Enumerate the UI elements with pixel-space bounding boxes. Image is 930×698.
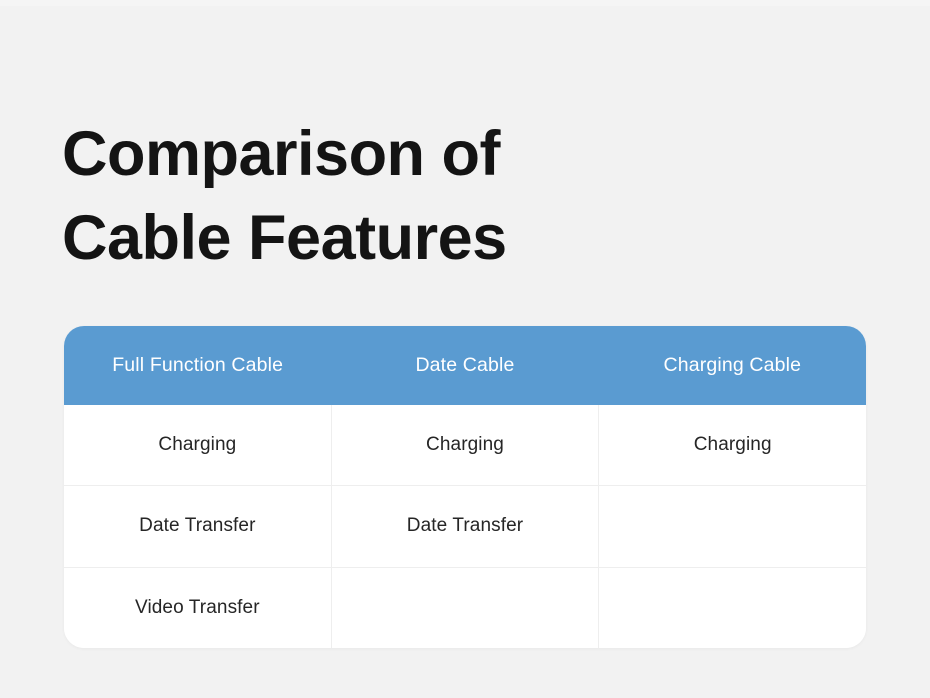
table-grid: Full Function Cable Date Cable Charging …	[64, 326, 866, 648]
table-cell-empty	[598, 568, 866, 648]
table-cell-value: Date Transfer	[407, 515, 523, 537]
table-row: Date Transfer Date Transfer	[64, 485, 866, 567]
table-cell: Date Transfer	[64, 486, 331, 567]
table-header-cell-full-function-cable: Full Function Cable	[64, 326, 331, 405]
table-cell: Charging	[64, 405, 331, 486]
table-header-label: Date Cable	[415, 354, 514, 377]
page-title-line-2: Cable Features	[62, 196, 822, 280]
table-header-row: Full Function Cable Date Cable Charging …	[64, 326, 866, 405]
table-cell: Video Transfer	[64, 568, 331, 648]
table-row: Charging Charging Charging	[64, 405, 866, 486]
table-cell-value: Charging	[694, 434, 772, 456]
table-header-label: Full Function Cable	[112, 354, 283, 377]
table-header-cell-charging-cable: Charging Cable	[599, 326, 866, 405]
table-cell-value: Date Transfer	[139, 515, 255, 537]
page-title: Comparison of Cable Features	[62, 112, 822, 280]
table-cell: Charging	[598, 405, 866, 486]
comparison-page: Comparison of Cable Features Full Functi…	[0, 0, 930, 698]
table-cell-value: Video Transfer	[135, 597, 260, 619]
table-header-cell-date-cable: Date Cable	[331, 326, 598, 405]
table-cell-value: Charging	[158, 434, 236, 456]
table-cell-empty	[331, 568, 599, 648]
table-cell: Date Transfer	[331, 486, 599, 567]
cable-comparison-table: Full Function Cable Date Cable Charging …	[64, 326, 866, 648]
table-header-label: Charging Cable	[664, 354, 802, 377]
table-cell-empty	[598, 486, 866, 567]
page-title-line-1: Comparison of	[62, 112, 822, 196]
table-cell-value: Charging	[426, 434, 504, 456]
table-row: Video Transfer	[64, 567, 866, 648]
table-cell: Charging	[331, 405, 599, 486]
